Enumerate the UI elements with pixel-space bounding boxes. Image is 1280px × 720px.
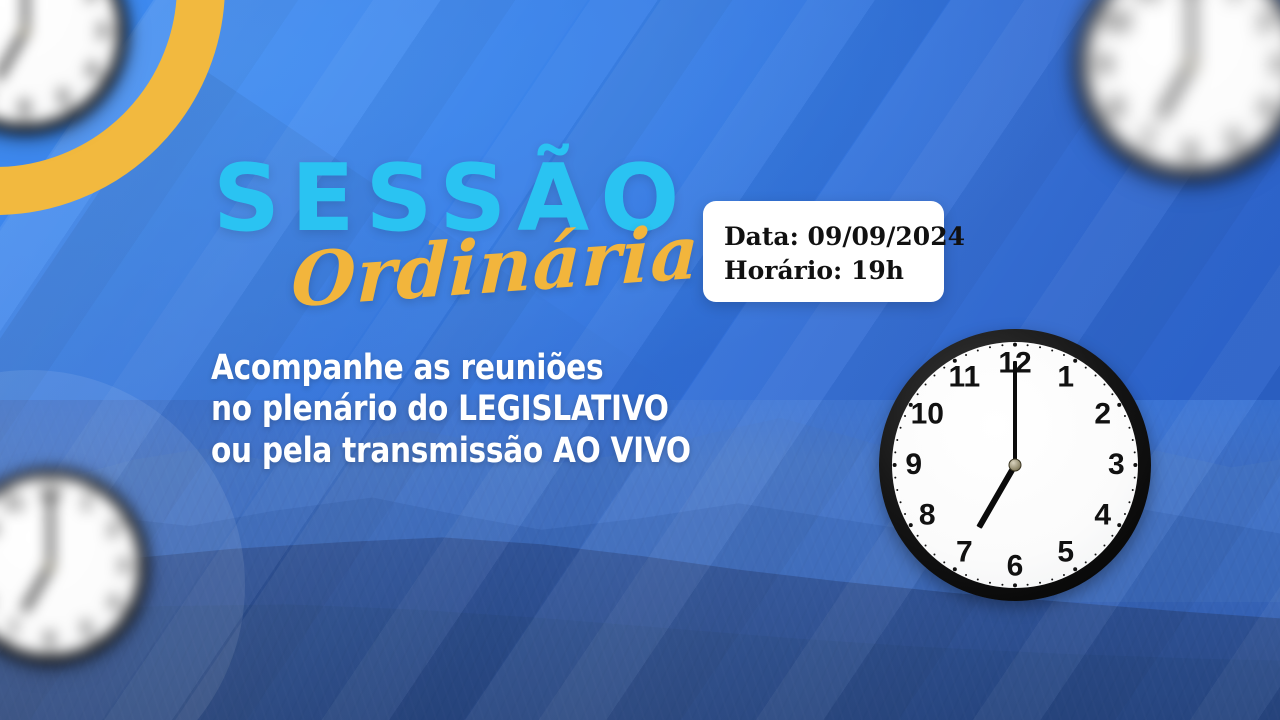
clock-minute-dot <box>52 117 54 119</box>
clock-minute-dot <box>107 67 109 69</box>
clock-minute-dot <box>1096 105 1098 107</box>
clock-minute-dot <box>904 415 907 418</box>
clock-minute-dot <box>100 635 102 637</box>
clock-minute-dot <box>31 650 33 652</box>
clock-minute-dot <box>1103 383 1106 386</box>
clock-minute-dot <box>22 648 24 650</box>
clock-minute-dot <box>1084 366 1087 369</box>
clock-minute-dot <box>943 561 946 564</box>
clock-minute-dot <box>115 20 117 22</box>
clock-minute-dot <box>1051 578 1054 581</box>
clock-minute-dot <box>1088 52 1090 54</box>
clock-hour-hand <box>1157 63 1193 120</box>
clock-face: 121234567891011 <box>892 342 1138 588</box>
clock-minute-dot <box>976 578 979 581</box>
clock-minute-dot <box>34 121 36 123</box>
clock-numeral: 9 <box>905 450 922 480</box>
clock-minute-dot <box>107 629 109 631</box>
clock-minute-dot <box>908 523 913 528</box>
clock-minute-dot <box>1100 113 1104 117</box>
clock-minute-dot <box>965 354 968 357</box>
time-line: Horário: 19h <box>724 254 944 288</box>
clock-minute-dot <box>113 623 115 625</box>
clock-minute-dot <box>113 49 115 51</box>
clock-minute-dot <box>976 349 979 352</box>
clock-numeral: 8 <box>1109 94 1123 120</box>
clock-numeral: 2 <box>1094 399 1111 429</box>
clock-minute-dot <box>1107 3 1109 5</box>
clock-minute-dot <box>40 651 42 653</box>
clock-numeral: 11 <box>1134 0 1162 2</box>
clock-minute-dot <box>1130 146 1132 148</box>
clock-minute-dot <box>1063 354 1066 357</box>
clock-minute-hand <box>1013 361 1017 465</box>
clock-minute-dot <box>132 538 134 540</box>
poster-canvas: 121234567891011 121234567891011 12123456… <box>0 0 1280 720</box>
body-line-3: ou pela transmissão AO VIVO <box>211 431 691 472</box>
clock-minute-dot <box>1201 165 1203 167</box>
date-line: Data: 09/09/2024 <box>724 220 944 254</box>
clock-minute-dot <box>1111 393 1114 396</box>
clock-minute-dot <box>1086 62 1090 66</box>
clock-minute-dot <box>1133 476 1136 479</box>
clock-minute-dot <box>1133 463 1138 468</box>
clock-minute-dot <box>119 514 121 516</box>
clock-numeral: 10 <box>1102 8 1131 34</box>
clock-minute-dot <box>1092 95 1094 97</box>
clock-minute-dot <box>134 583 136 585</box>
clock-numeral: 1 <box>81 492 93 513</box>
clock-minute-dot <box>31 480 33 482</box>
clock-minute-dot <box>67 650 69 652</box>
clock-minute-dot <box>1092 31 1094 33</box>
clock-minute-dot <box>899 426 902 429</box>
clock-hour-hand <box>0 30 28 81</box>
clock-minute-dot <box>135 556 137 558</box>
clock-minute-dot <box>134 547 136 549</box>
clock-minute-dot <box>1158 160 1160 162</box>
clock-minute-dot <box>1039 581 1042 584</box>
clock-minute-dot <box>1063 574 1066 577</box>
clock-minute-dot <box>114 29 118 33</box>
clock-minute-dot <box>1084 561 1087 564</box>
clock-minute-hand <box>48 492 53 566</box>
clock-minute-dot <box>1121 139 1123 141</box>
clock-minute-dot <box>67 480 69 482</box>
clock-numeral: 3 <box>1108 450 1125 480</box>
clock-minute-dot <box>1273 123 1275 125</box>
clock-numeral: 7 <box>956 538 973 568</box>
clock-minute-dot <box>1107 123 1109 125</box>
clock-minute-dot <box>123 521 127 525</box>
clock-numeral: 9 <box>1097 51 1111 77</box>
clock-minute-dot <box>1117 523 1122 528</box>
clock-minute-dot <box>1013 583 1018 588</box>
clock-minute-dot <box>115 40 117 42</box>
clock-minute-dot <box>894 476 897 479</box>
clock-minute-dot <box>924 383 927 386</box>
clock-minute-dot <box>1259 139 1261 141</box>
clock-minute-dot <box>943 366 946 369</box>
clock-hour-hand <box>21 565 52 613</box>
clock-minute-dot <box>14 644 16 646</box>
clock-numeral: 6 <box>44 629 56 650</box>
clock-center-cap <box>45 561 55 571</box>
clock-numeral: 11 <box>2 492 24 513</box>
body-line-2: no plenário do LEGISLATIVO <box>211 389 691 430</box>
body-line-1: Acompanhe as reuniões <box>211 348 691 389</box>
clock-minute-dot <box>100 495 102 497</box>
clock-numeral: 2 <box>107 519 119 540</box>
clock-numeral: 10 <box>911 399 944 429</box>
clock-minute-dot <box>1039 346 1042 349</box>
clock-numeral: 5 <box>1057 538 1074 568</box>
clock-minute-dot <box>1114 132 1116 134</box>
clock-minute-dot <box>896 489 899 492</box>
clock-numeral: 6 <box>1184 137 1198 163</box>
clock-minute-dot <box>1103 544 1106 547</box>
date-time-card: Data: 09/09/2024 Horário: 19h <box>703 201 944 302</box>
clock-minute-dot <box>894 451 897 454</box>
clock-minute-dot <box>85 98 87 100</box>
clock-minute-dot <box>1094 553 1097 556</box>
clock-minute-dot <box>1222 160 1224 162</box>
clock-numeral: 11 <box>948 362 980 392</box>
clock-minute-dot <box>1128 426 1131 429</box>
clock-minute-dot <box>128 600 130 602</box>
clock-minute-dot <box>58 479 60 481</box>
clock-minute-dot <box>1001 583 1004 586</box>
clock-minute-dot <box>76 648 78 650</box>
clock-hour-hand <box>976 464 1017 529</box>
clock-numeral: 3 <box>117 556 129 577</box>
clock-minute-dot <box>1131 489 1134 492</box>
clock-center-cap <box>1186 59 1197 70</box>
clock-minute-dot <box>98 84 100 86</box>
clock-minute-dot <box>892 463 897 468</box>
clock-minute-dot <box>14 121 16 123</box>
clock-minute-dot <box>1179 165 1181 167</box>
clock-numeral: 7 <box>8 619 20 640</box>
clock-minute-dot <box>1133 451 1136 454</box>
clock-minute-dot <box>84 644 86 646</box>
clock-minute-dot <box>78 104 80 106</box>
clock-minute-dot <box>40 479 42 481</box>
clock-minute-dot <box>896 439 899 442</box>
clock-minute-dot <box>1211 163 1213 165</box>
clock-minute-dot <box>135 564 139 568</box>
clock-minute-dot <box>76 483 78 485</box>
clock-minute-dot <box>933 374 936 377</box>
poster-body-copy: Acompanhe as reuniões no plenário do LEG… <box>211 348 691 472</box>
clock-numeral: 3 <box>1270 51 1280 77</box>
clock-minute-dot <box>1111 534 1114 537</box>
clock-minute-dot <box>92 91 94 93</box>
clock-minute-dot <box>102 75 106 79</box>
clock-numeral: 6 <box>19 96 32 119</box>
clock-minute-dot <box>123 608 127 612</box>
clock-numeral: 2 <box>85 0 98 4</box>
clock-numeral: 4 <box>1094 501 1111 531</box>
clock-minute-dot <box>1232 157 1234 159</box>
clock-numeral: 3 <box>95 20 108 43</box>
clock-numeral: 2 <box>1259 8 1273 34</box>
clock-minute-dot <box>48 651 52 655</box>
clock-minute-dot <box>22 483 24 485</box>
clock-minute-dot <box>107 501 109 503</box>
clock-numeral: 7 <box>1141 126 1155 152</box>
clock-minute-dot <box>1051 349 1054 352</box>
clock-numeral: 4 <box>107 592 119 613</box>
clock-minute-dot <box>989 346 992 349</box>
clock-minute-dot <box>58 651 60 653</box>
clock-numeral: 5 <box>57 86 70 109</box>
clock-minute-dot <box>924 544 927 547</box>
clock-minute-dot <box>1273 3 1275 5</box>
clock-minute-dot <box>132 592 134 594</box>
clock-numeral: 4 <box>85 58 98 81</box>
clock-minute-dot <box>1089 41 1091 43</box>
clock-numeral: 5 <box>81 619 93 640</box>
clock-minute-dot <box>1250 146 1252 148</box>
clock-minute-dot <box>1266 132 1268 134</box>
clock-minute-dot <box>14 486 16 488</box>
clock-minute-dot <box>61 113 63 115</box>
clock-minute-dot <box>1096 21 1098 23</box>
clock-minute-dot <box>111 58 113 60</box>
clock-minute-dot <box>989 581 992 584</box>
clock-minute-dot <box>916 393 919 396</box>
clock-minute-dot <box>1089 84 1091 86</box>
clock-minute-dot <box>1168 163 1170 165</box>
clock-minute-dot <box>933 553 936 556</box>
clock-minute-dot <box>904 513 907 516</box>
clock-minute-dot <box>84 486 86 488</box>
clock-minute-dot <box>1148 157 1150 159</box>
clock-minute-dot <box>1026 583 1029 586</box>
clock-minute-dot <box>5 119 7 121</box>
clock-numeral: 1 <box>1227 0 1241 2</box>
clock-center-cap <box>1009 459 1022 472</box>
clock-numeral: 5 <box>1227 126 1241 152</box>
clock-minute-dot <box>1094 374 1097 377</box>
clock-minute-dot <box>113 507 115 509</box>
clock-minute-dot <box>916 534 919 537</box>
clock-minute-dot <box>119 616 121 618</box>
clock-minute-dot <box>43 119 45 121</box>
clock-minute-dot <box>1128 501 1131 504</box>
clock-minute-dot <box>899 501 902 504</box>
clock-numeral: 8 <box>919 501 936 531</box>
clock-minute-dot <box>111 2 113 4</box>
clock-minute-dot <box>1088 74 1090 76</box>
clock-minute-dot <box>1124 415 1127 418</box>
clock-minute-dot <box>113 11 115 13</box>
clock-minute-dot <box>1131 439 1134 442</box>
clock-minute-hand <box>1189 0 1194 64</box>
main-clock: 121234567891011 <box>879 329 1151 601</box>
clock-minute-dot <box>128 530 130 532</box>
clock-minute-dot <box>1117 402 1122 407</box>
clock-minute-dot <box>965 574 968 577</box>
clock-numeral: 4 <box>1259 94 1273 120</box>
clock-center-cap <box>20 26 30 36</box>
clock-minute-dot <box>1124 513 1127 516</box>
clock-numeral: 6 <box>1007 551 1024 581</box>
clock-numeral: 1 <box>1057 362 1074 392</box>
clock-minute-dot <box>135 574 137 576</box>
clock-minute-dot <box>23 120 27 124</box>
